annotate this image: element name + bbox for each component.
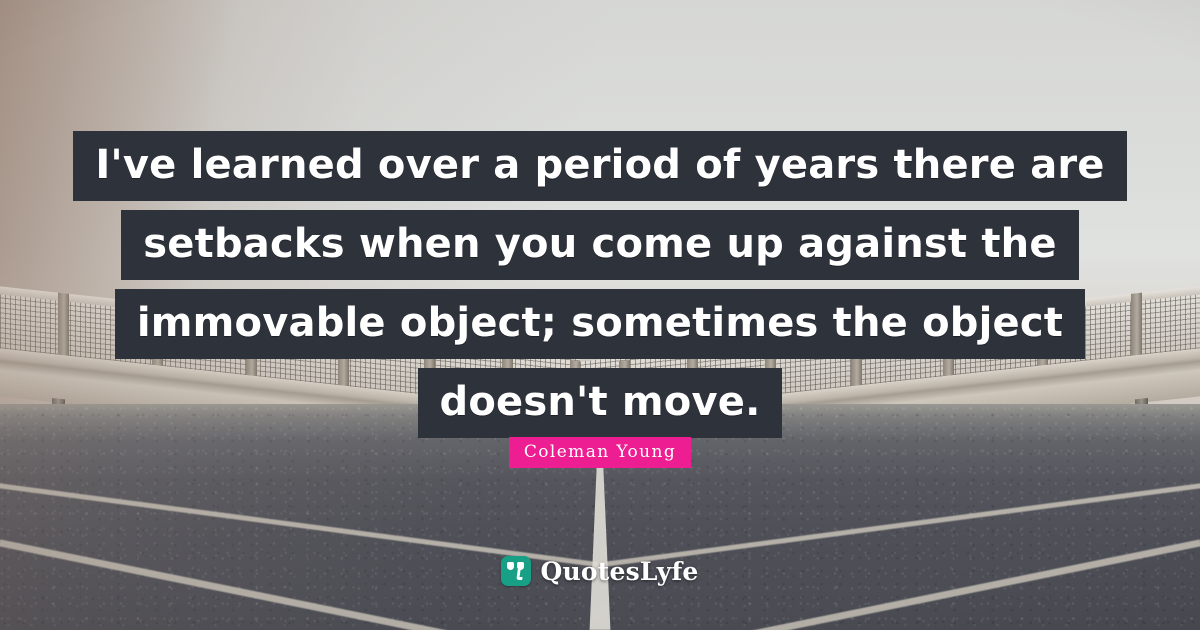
- author-badge-wrap: Coleman Young: [0, 437, 1200, 468]
- brand-logo[interactable]: QuotesLyfe: [0, 556, 1200, 586]
- brand-name: QuotesLyfe: [540, 557, 698, 586]
- author-badge[interactable]: Coleman Young: [509, 437, 691, 468]
- quote-line-4: doesn't move.: [418, 368, 783, 438]
- quote-card: I've learned over a period of years ther…: [0, 0, 1200, 630]
- quote-text: I've learned over a period of years ther…: [0, 131, 1200, 438]
- quote-line-2: setbacks when you come up against the: [121, 210, 1078, 280]
- quote-check-icon: [501, 556, 531, 586]
- quote-line-1: I've learned over a period of years ther…: [73, 131, 1126, 201]
- quote-line-3: immovable object; sometimes the object: [115, 289, 1085, 359]
